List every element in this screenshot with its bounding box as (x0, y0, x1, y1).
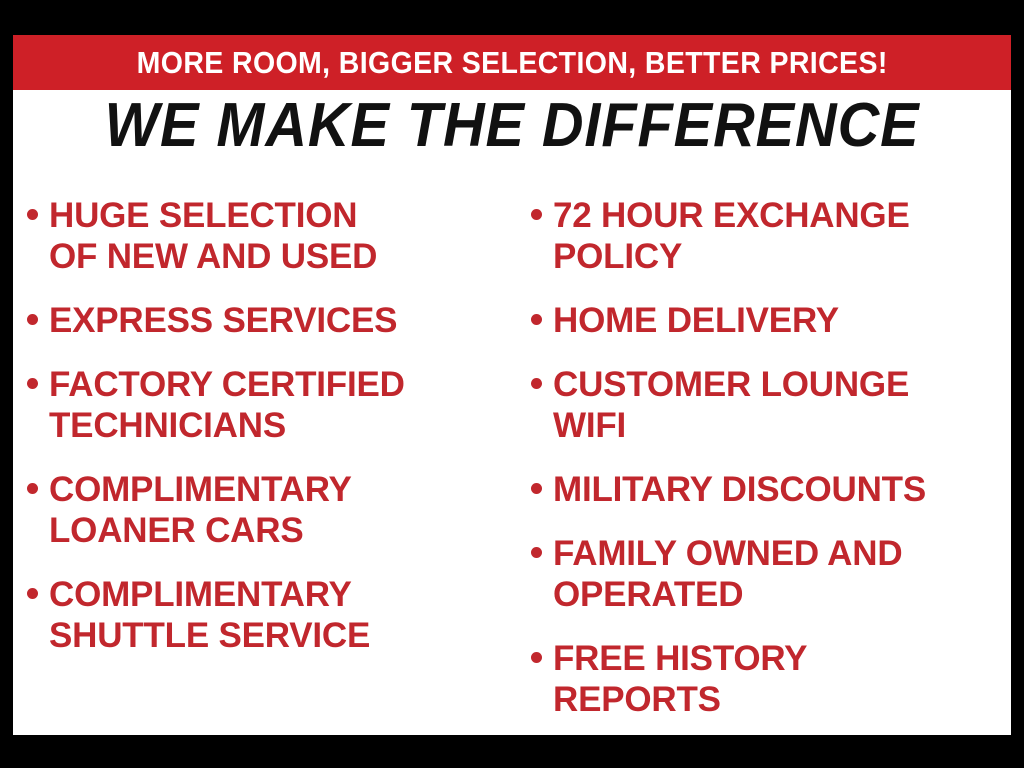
bullet-dot-icon (531, 314, 542, 325)
main-headline-text: WE MAKE THE DIFFERENCE (105, 95, 920, 157)
feature-bullet-item: FACTORY CERTIFIED TECHNICIANS (27, 364, 527, 446)
bullet-dot-icon (531, 378, 542, 389)
feature-bullet-label: COMPLIMENTARY LOANER CARS (49, 469, 352, 551)
feature-bullet-item: EXPRESS SERVICES (27, 300, 527, 341)
feature-bullet-item: HOME DELIVERY (531, 300, 1011, 341)
features-column-right: 72 HOUR EXCHANGE POLICYHOME DELIVERYCUST… (531, 195, 1011, 743)
bullet-dot-icon (531, 547, 542, 558)
bullet-dot-icon (531, 209, 542, 220)
feature-bullet-label: CUSTOMER LOUNGE WIFI (553, 364, 909, 446)
bullet-dot-icon (27, 209, 38, 220)
main-headline: WE MAKE THE DIFFERENCE (13, 95, 1011, 157)
feature-bullet-item: COMPLIMENTARY LOANER CARS (27, 469, 527, 551)
features-column-left: HUGE SELECTION OF NEW AND USEDEXPRESS SE… (27, 195, 527, 679)
bullet-dot-icon (27, 314, 38, 325)
feature-bullet-label: FAMILY OWNED AND OPERATED (553, 533, 902, 615)
feature-bullet-item: CUSTOMER LOUNGE WIFI (531, 364, 1011, 446)
feature-bullet-item: FREE HISTORY REPORTS (531, 638, 1011, 720)
feature-bullet-label: HUGE SELECTION OF NEW AND USED (49, 195, 377, 277)
features-columns: HUGE SELECTION OF NEW AND USEDEXPRESS SE… (13, 195, 1011, 735)
feature-bullet-label: MILITARY DISCOUNTS (553, 469, 926, 510)
feature-bullet-label: 72 HOUR EXCHANGE POLICY (553, 195, 910, 277)
bullet-dot-icon (27, 483, 38, 494)
feature-bullet-item: HUGE SELECTION OF NEW AND USED (27, 195, 527, 277)
bullet-dot-icon (531, 652, 542, 663)
feature-bullet-item: 72 HOUR EXCHANGE POLICY (531, 195, 1011, 277)
feature-bullet-label: EXPRESS SERVICES (49, 300, 397, 341)
bullet-dot-icon (531, 483, 542, 494)
feature-bullet-label: HOME DELIVERY (553, 300, 839, 341)
promotional-poster: MORE ROOM, BIGGER SELECTION, BETTER PRIC… (0, 0, 1024, 768)
bullet-dot-icon (27, 588, 38, 599)
bullet-dot-icon (27, 378, 38, 389)
feature-bullet-item: FAMILY OWNED AND OPERATED (531, 533, 1011, 615)
top-banner: MORE ROOM, BIGGER SELECTION, BETTER PRIC… (13, 35, 1011, 90)
banner-headline-text: MORE ROOM, BIGGER SELECTION, BETTER PRIC… (136, 47, 887, 78)
feature-bullet-label: COMPLIMENTARY SHUTTLE SERVICE (49, 574, 370, 656)
feature-bullet-label: FACTORY CERTIFIED TECHNICIANS (49, 364, 405, 446)
feature-bullet-item: MILITARY DISCOUNTS (531, 469, 1011, 510)
feature-bullet-label: FREE HISTORY REPORTS (553, 638, 807, 720)
feature-bullet-item: COMPLIMENTARY SHUTTLE SERVICE (27, 574, 527, 656)
poster-panel: MORE ROOM, BIGGER SELECTION, BETTER PRIC… (13, 35, 1011, 735)
